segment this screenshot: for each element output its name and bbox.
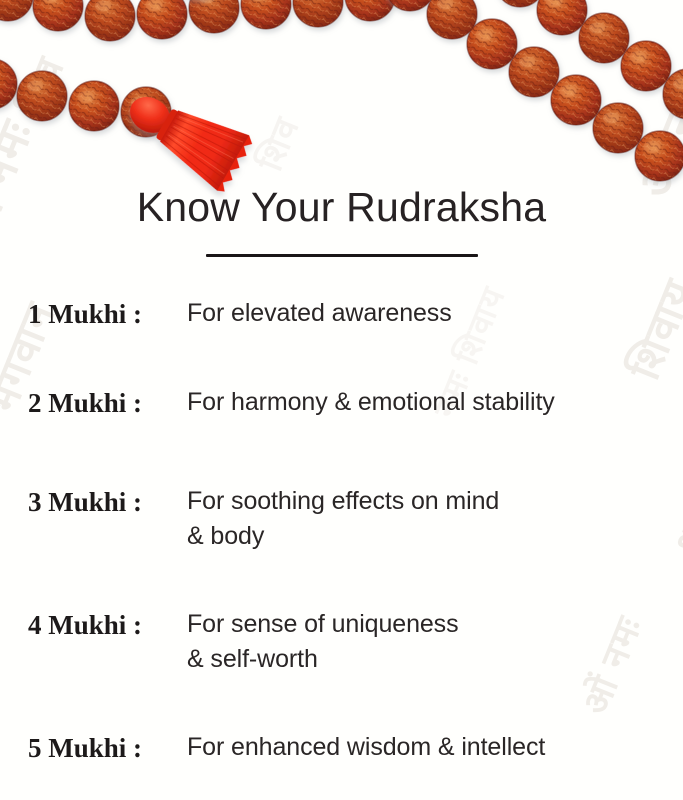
mukhi-description: For elevated awareness (187, 296, 452, 332)
mukhi-description: For harmony & emotional stability (187, 385, 555, 421)
description-line: & body (187, 519, 499, 555)
mukhi-label: 1 Mukhi : (28, 296, 187, 332)
mukhi-label: 3 Mukhi : (28, 484, 187, 520)
list-item: 5 Mukhi : For enhanced wisdom & intellec… (0, 730, 683, 766)
title-block: Know Your Rudraksha (0, 186, 683, 257)
description-line: For enhanced wisdom & intellect (187, 730, 545, 766)
description-line: For elevated awareness (187, 296, 452, 332)
list-item: 2 Mukhi : For harmony & emotional stabil… (0, 385, 683, 421)
list-item: 3 Mukhi : For soothing effects on mind &… (0, 484, 683, 555)
description-line: For harmony & emotional stability (187, 385, 555, 421)
mukhi-description: For enhanced wisdom & intellect (187, 730, 545, 766)
description-line: For sense of uniqueness (187, 607, 458, 643)
page-title: Know Your Rudraksha (0, 186, 683, 229)
mukhi-label: 2 Mukhi : (28, 385, 187, 421)
list-item: 4 Mukhi : For sense of uniqueness & self… (0, 607, 683, 678)
title-divider (206, 254, 478, 257)
description-line: & self-worth (187, 642, 458, 678)
mukhi-description: For soothing effects on mind & body (187, 484, 499, 555)
mukhi-label: 4 Mukhi : (28, 607, 187, 643)
mukhi-label: 5 Mukhi : (28, 730, 187, 766)
mukhi-description: For sense of uniqueness & self-worth (187, 607, 458, 678)
description-line: For soothing effects on mind (187, 484, 499, 520)
mukhi-list: 1 Mukhi : For elevated awareness 2 Mukhi… (0, 296, 683, 766)
list-item: 1 Mukhi : For elevated awareness (0, 296, 683, 332)
infographic-content: Know Your Rudraksha 1 Mukhi : For elevat… (0, 0, 683, 800)
